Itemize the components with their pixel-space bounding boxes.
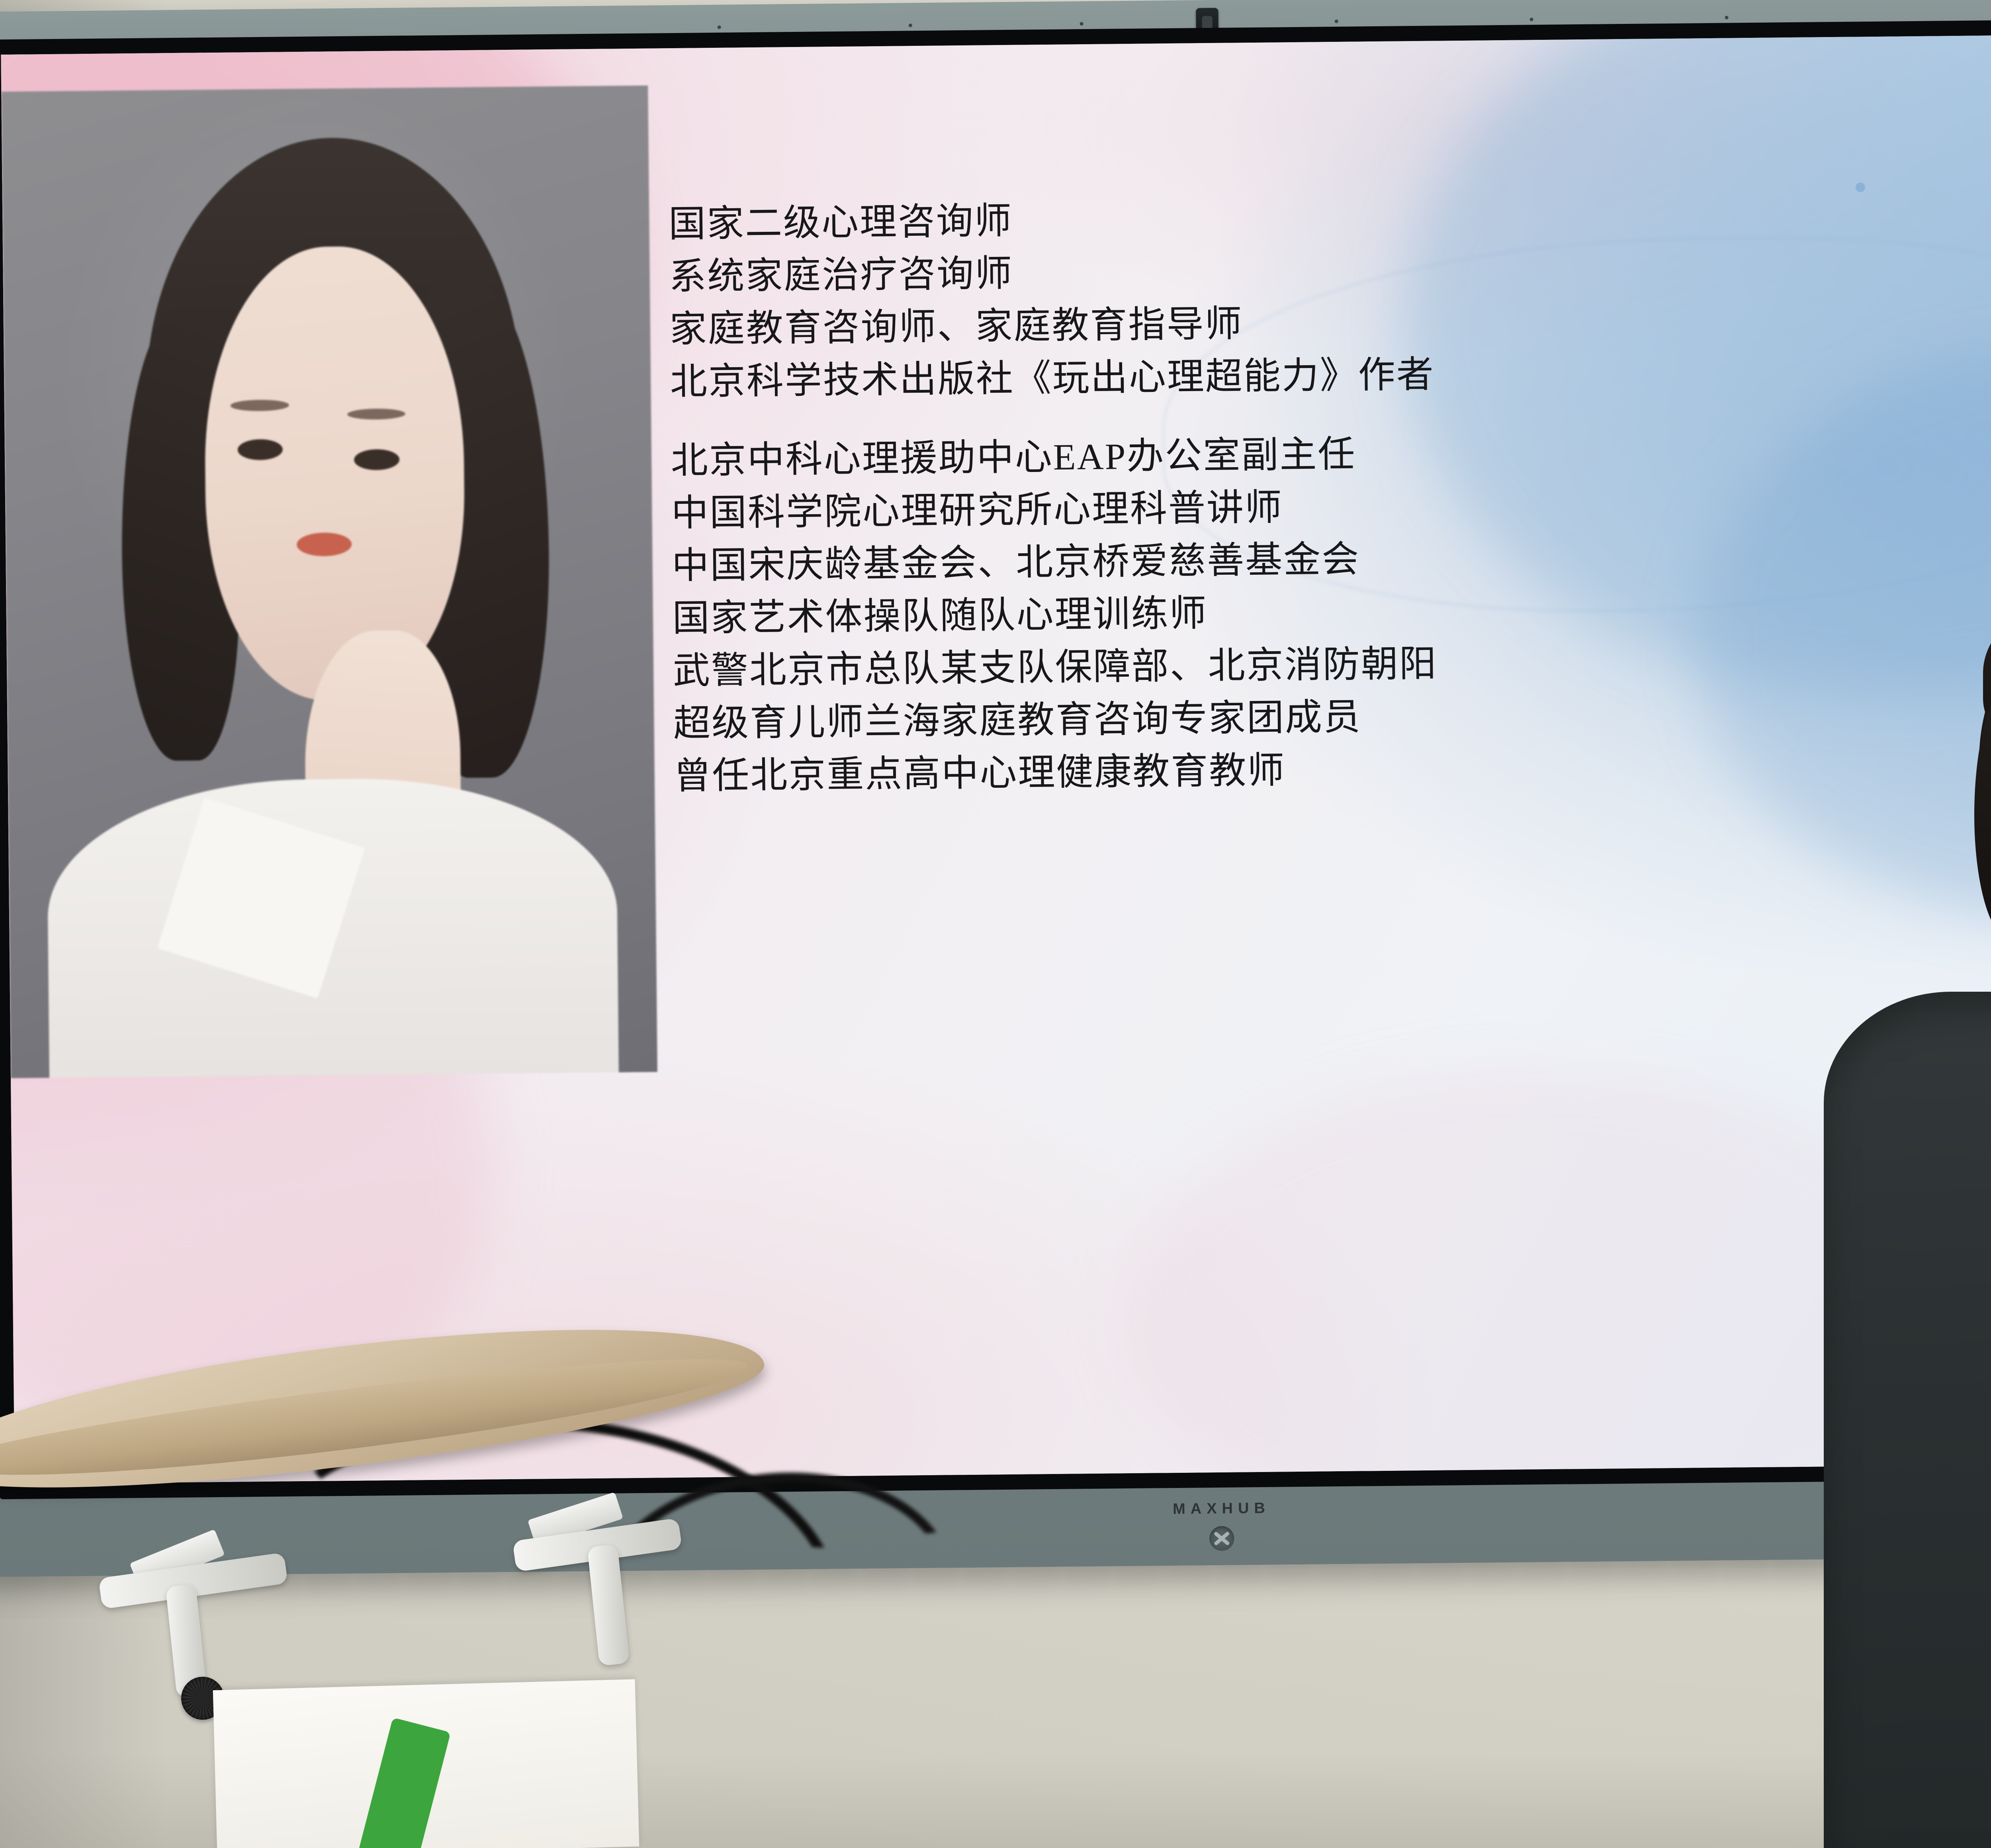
presenter-person — [1744, 581, 1991, 1848]
mic-hole-icon — [718, 25, 721, 29]
maxhub-interactive-display[interactable]: 李小萌 国家二级心理咨询师 系统家庭治疗咨询师 家庭教育咨询师、家庭教育指导师 … — [0, 0, 1991, 1577]
maxhub-logo-icon[interactable] — [1209, 1526, 1234, 1551]
display-screen[interactable]: 李小萌 国家二级心理咨询师 系统家庭治疗咨询师 家庭教育咨询师、家庭教育指导师 … — [1, 31, 1991, 1484]
mic-hole-icon — [1080, 22, 1084, 25]
poster-green-stroke — [337, 1717, 450, 1848]
mic-hole-icon — [1530, 18, 1533, 21]
mic-hole-icon — [1725, 16, 1729, 20]
presentation-room-photo: 李小萌 国家二级心理咨询师 系统家庭治疗咨询师 家庭教育咨询师、家庭教育指导师 … — [0, 0, 1991, 1848]
display-inner-frame: 李小萌 国家二级心理咨询师 系统家庭治疗咨询师 家庭教育咨询师、家庭教育指导师 … — [0, 16, 1991, 1500]
slide-canvas: 李小萌 国家二级心理咨询师 系统家庭治疗咨询师 家庭教育咨询师、家庭教育指导师 … — [1, 31, 1991, 1484]
green-stroke-poster — [213, 1679, 640, 1848]
presenter-portrait-photo — [1, 86, 657, 1078]
presenter-coat — [1824, 992, 1991, 1848]
mic-hole-icon — [909, 23, 912, 27]
display-bezel: 李小萌 国家二级心理咨询师 系统家庭治疗咨询师 家庭教育咨询师、家庭教育指导师 … — [0, 0, 1991, 1577]
mic-hole-icon — [1335, 20, 1338, 23]
